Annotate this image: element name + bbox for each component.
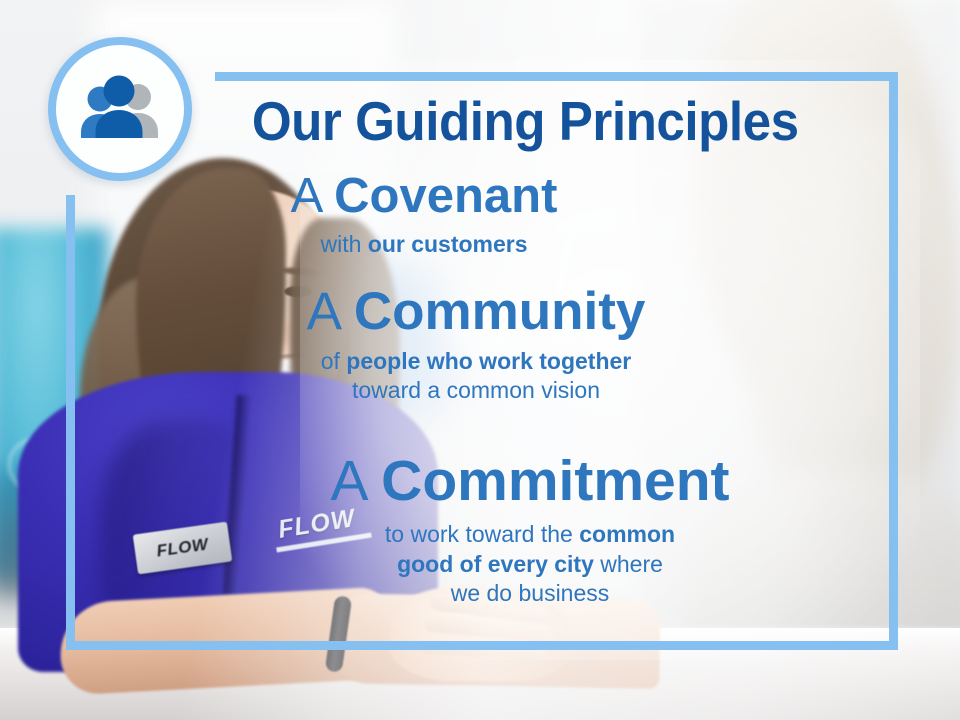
principle-community: A Community of people who work together … [60, 285, 892, 406]
principle-covenant: A Covenant with our customers [8, 172, 840, 259]
principle-1-subtitle: with our customers [8, 230, 840, 259]
principle-1-sub-bold: our customers [368, 231, 528, 257]
principle-1-keyword: Covenant [334, 169, 557, 223]
principle-1-lead: A [291, 169, 335, 223]
principle-3-sub-bold-2: good of every city [397, 551, 594, 577]
principle-3-keyword: Commitment [381, 449, 729, 513]
principle-3-sub-tail: where [594, 551, 663, 577]
principle-2-lead: A [307, 282, 354, 341]
text-content: Our Guiding Principles A Covenant with o… [66, 72, 898, 650]
principle-3-sub-lead: to work toward the [385, 521, 579, 547]
principle-2-sub-lead: of [321, 348, 347, 374]
principle-1-title: A Covenant [8, 172, 840, 222]
principle-3-sub-line-3: we do business [114, 579, 946, 608]
principle-1-sub-lead: with [320, 231, 367, 257]
principle-3-sub-line-2: good of every city where [114, 550, 946, 579]
poster-canvas: FLOW FLOW [0, 0, 960, 720]
principle-3-title: A Commitment [114, 452, 946, 510]
principle-2-subtitle: of people who work together toward a com… [60, 347, 892, 406]
principle-2-sub-line-2: toward a common vision [60, 376, 892, 405]
principle-2-sub-line-1: of people who work together [60, 347, 892, 376]
principle-3-lead: A [330, 449, 381, 513]
principle-3-sub-line-1: to work toward the common [114, 520, 946, 549]
principle-3-sub-bold-1: common [579, 521, 675, 547]
principle-2-sub-bold: people who work together [346, 348, 631, 374]
principle-2-keyword: Community [354, 282, 646, 341]
page-title: Our Guiding Principles [95, 94, 856, 149]
principle-3-subtitle: to work toward the common good of every … [114, 520, 946, 608]
principle-2-title: A Community [60, 285, 892, 339]
principle-commitment: A Commitment to work toward the common g… [114, 452, 946, 608]
